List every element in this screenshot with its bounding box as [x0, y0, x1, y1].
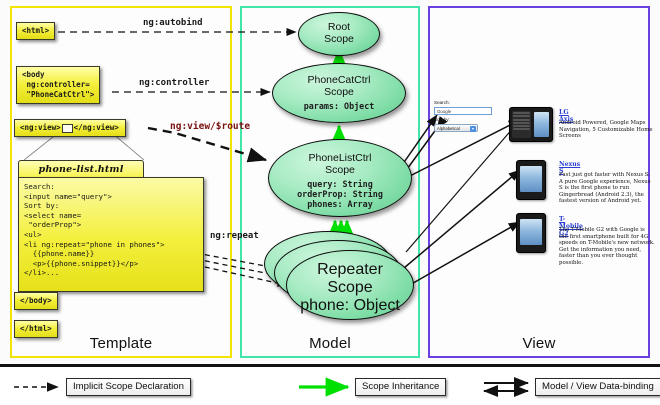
label-ng-repeat: ng:repeat	[210, 231, 259, 241]
legend-label-implicit-scope-declaration: Implicit Scope Declaration	[66, 378, 191, 396]
scope-repeater-title: Repeater	[287, 261, 413, 279]
scope-phonecatctrl: PhoneCatCtrl Scope params: Object	[272, 63, 406, 123]
scope-phonelistctrl-subtitle: Scope	[269, 164, 411, 176]
label-ng-controller: ng:controller	[139, 78, 209, 88]
ngview-close-tag: </ng:view>	[74, 123, 119, 132]
body-close-tag-box: </body>	[14, 292, 58, 310]
scope-phonecatctrl-props: params: Object	[273, 101, 405, 111]
file-code-body: Search: <input name="query"> Sort by: <s…	[18, 177, 204, 292]
body-tag-box: <body ng:controller= "PhoneCatCtrl">	[16, 66, 100, 104]
legend-label-scope-inheritance: Scope Inheritance	[355, 378, 446, 396]
phone-image-lg-axis	[509, 107, 553, 142]
phone-screen	[534, 112, 549, 137]
panel-model-title: Model	[242, 335, 418, 352]
file-name-tab: phone-list.html	[18, 160, 144, 178]
scope-repeater-stack: Repeater Scope phone: Object	[264, 231, 416, 325]
sort-label: Sort by:	[434, 117, 496, 123]
sort-select-value: Alphabetical	[437, 126, 460, 131]
chevron-down-icon: ▾	[470, 126, 476, 132]
sort-select[interactable]: Alphabetical ▾	[434, 124, 478, 132]
phone-description: Fast just got faster with Nexus S. A pur…	[559, 172, 655, 205]
scope-phonelistctrl-title: PhoneListCtrl	[269, 152, 411, 164]
scope-phonelistctrl: PhoneListCtrl Scope query: String orderP…	[268, 139, 412, 217]
phone-screen	[520, 166, 542, 192]
scope-phonecatctrl-title: PhoneCatCtrl	[273, 74, 405, 86]
label-ng-autobind: ng:autobind	[143, 18, 203, 28]
html-tag-box: <html>	[16, 22, 55, 40]
phone-image-nexus-s	[516, 160, 546, 200]
phone-keyboard-icon	[512, 111, 531, 138]
ngview-slot-icon	[62, 124, 73, 133]
view-search-controls: Search: Google Sort by: Alphabetical ▾	[434, 100, 496, 132]
scope-root: Root Scope	[298, 12, 380, 56]
label-ng-view-route: ng:view/$route	[170, 121, 250, 132]
legend: Implicit Scope Declaration Scope Inherit…	[0, 364, 660, 405]
html-close-tag-box: </html>	[14, 320, 58, 338]
scope-repeater-props: phone: Object	[287, 297, 413, 315]
search-input[interactable]: Google	[434, 107, 492, 115]
search-label: Search:	[434, 100, 496, 106]
ngview-open-tag: <ng:view>	[20, 123, 61, 132]
scope-repeater-subtitle: Scope	[287, 279, 413, 297]
scope-phonelistctrl-props: query: String orderProp: String phones: …	[269, 179, 411, 210]
phone-description: Android Powered, Google Maps Navigation,…	[559, 120, 655, 140]
phone-description: The T-Mobile G2 with Google is the first…	[559, 227, 655, 267]
ngview-tag-box: <ng:view></ng:view>	[14, 119, 126, 137]
scope-phonecatctrl-subtitle: Scope	[273, 86, 405, 98]
scope-root-subtitle: Scope	[299, 33, 379, 45]
panel-view-title: View	[430, 335, 648, 352]
legend-label-data-binding: Model / View Data-binding	[535, 378, 660, 396]
phone-list-file-callout: phone-list.html Search: <input name="que…	[18, 160, 204, 292]
scope-repeater-front: Repeater Scope phone: Object	[286, 250, 414, 320]
scope-root-title: Root	[299, 21, 379, 33]
phone-screen	[520, 219, 542, 245]
phone-image-t-mobile-g2	[516, 213, 546, 253]
angular-scope-diagram: Template Model View	[0, 0, 660, 405]
